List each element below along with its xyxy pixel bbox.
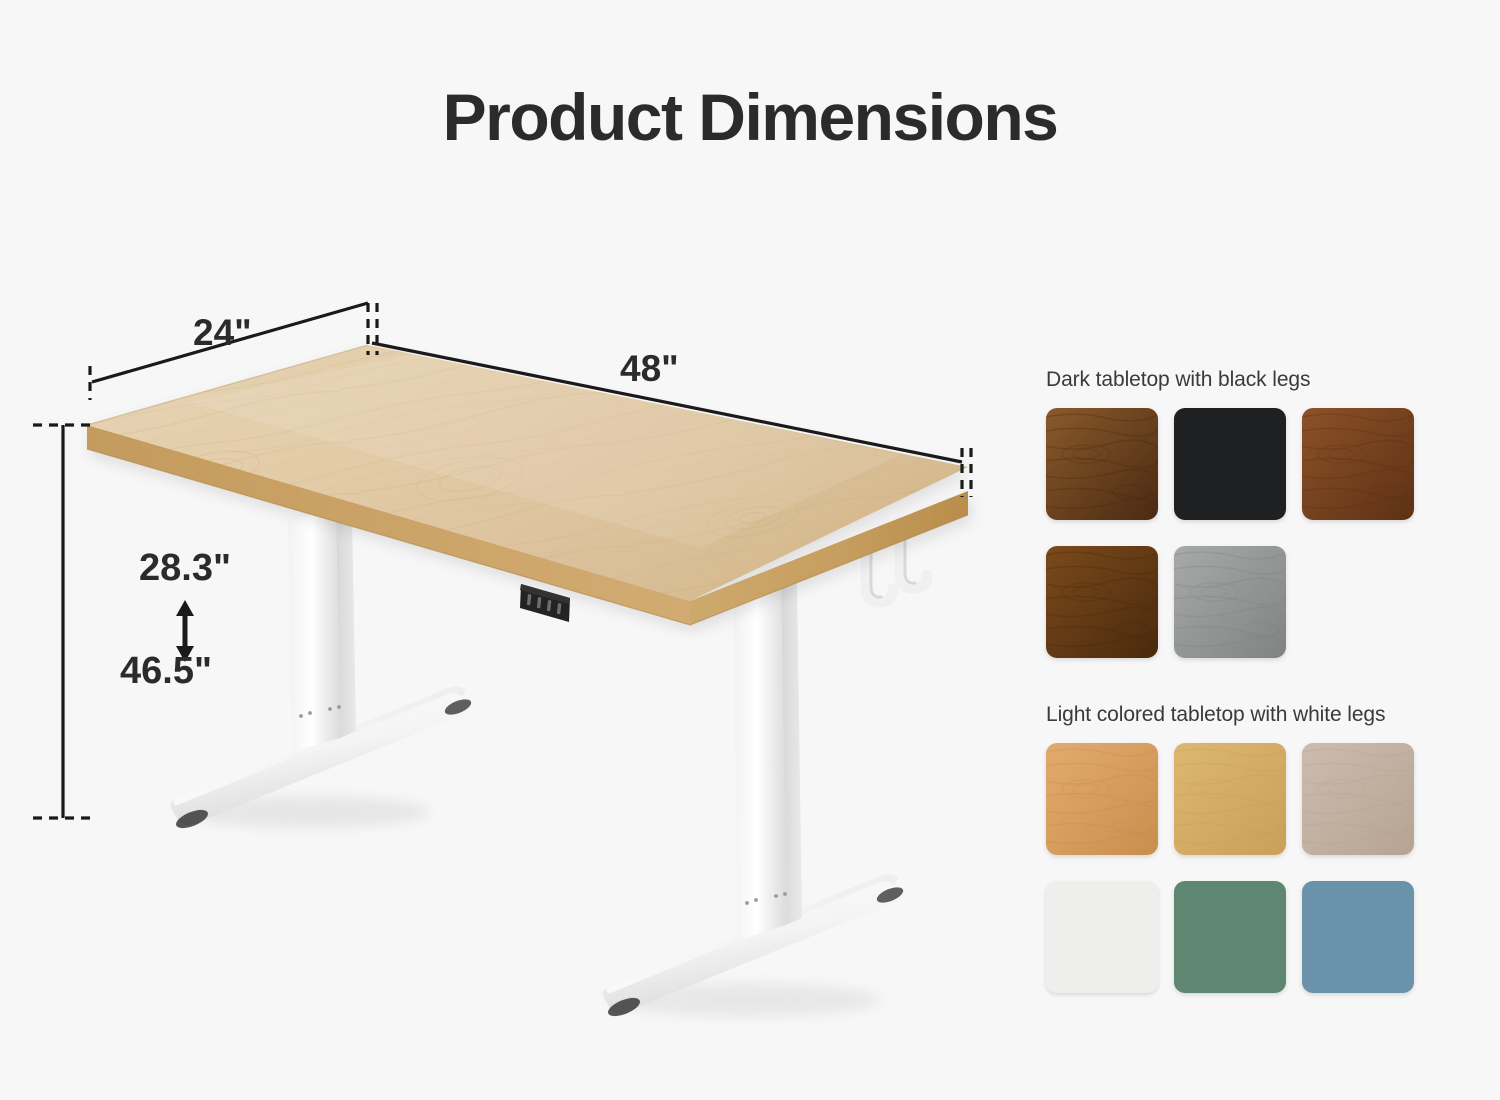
dimension-label-height-min: 28.3"	[139, 547, 231, 590]
swatch-grain-texture	[1302, 743, 1414, 855]
swatch-grain-texture	[1302, 408, 1414, 520]
swatch-grid-light	[1046, 743, 1414, 993]
swatch-group-light-title: Light colored tabletop with white legs	[1046, 703, 1414, 727]
dimension-label-width: 48"	[620, 348, 679, 390]
swatch-natural-oak-wood[interactable]	[1046, 743, 1158, 855]
swatch-grain-texture	[1174, 743, 1286, 855]
swatch-grain-texture	[1046, 408, 1158, 520]
swatch-dusty-blue[interactable]	[1302, 881, 1414, 993]
swatch-grid-dark	[1046, 408, 1414, 658]
dimension-label-depth: 24"	[193, 312, 252, 354]
swatch-rustic-brown-wood[interactable]	[1046, 408, 1158, 520]
swatch-grain-texture	[1046, 546, 1158, 658]
swatch-medium-walnut-wood[interactable]	[1302, 408, 1414, 520]
swatch-grain-texture	[1046, 743, 1158, 855]
control-panel[interactable]	[520, 584, 570, 622]
swatch-group-dark: Dark tabletop with black legs	[1046, 368, 1414, 658]
swatch-sage-green[interactable]	[1174, 881, 1286, 993]
swatch-gray-wood[interactable]	[1174, 546, 1286, 658]
swatch-dark-walnut-wood[interactable]	[1046, 546, 1158, 658]
swatch-bamboo-wood[interactable]	[1174, 743, 1286, 855]
swatch-white[interactable]	[1046, 881, 1158, 993]
swatch-black[interactable]	[1174, 408, 1286, 520]
swatch-light-ash-wood[interactable]	[1302, 743, 1414, 855]
swatch-group-dark-title: Dark tabletop with black legs	[1046, 368, 1414, 392]
swatch-group-light: Light colored tabletop with white legs	[1046, 703, 1414, 993]
desk-leg-right	[603, 578, 906, 1020]
swatch-grain-texture	[1174, 546, 1286, 658]
product-dimensions-infographic: Product Dimensions	[0, 0, 1500, 1100]
dimension-label-height-max: 46.5"	[120, 650, 212, 693]
